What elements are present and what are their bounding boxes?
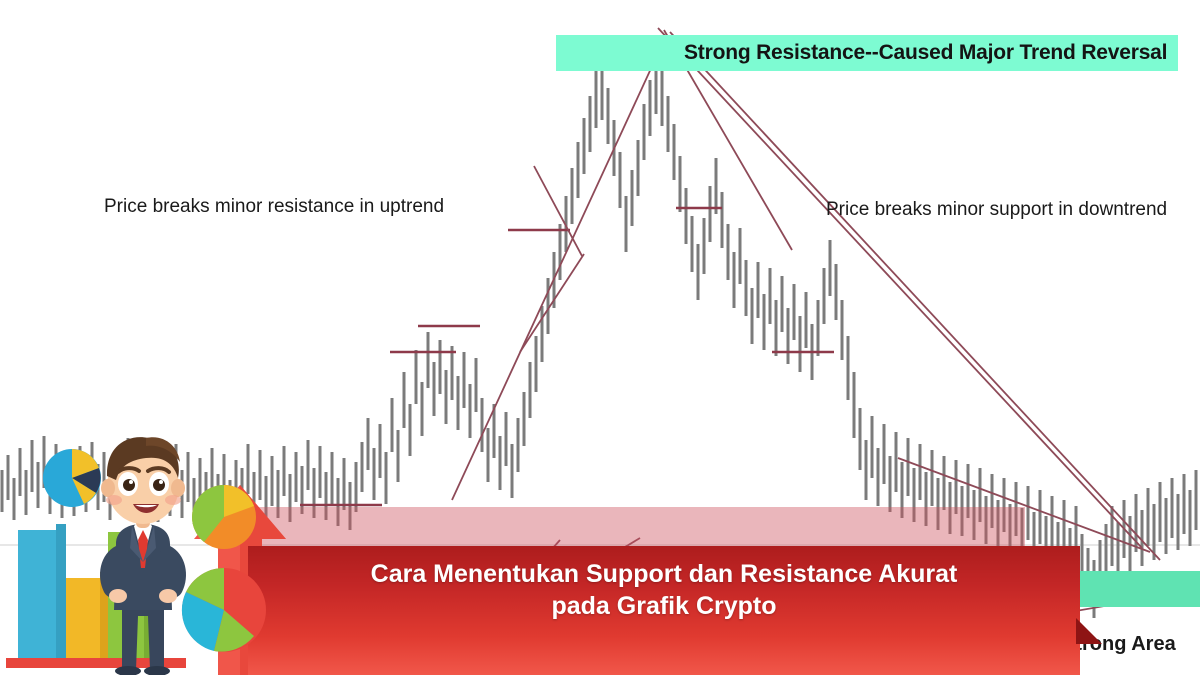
businessman-illustration xyxy=(0,420,268,675)
strong-resistance-label: Strong Resistance--Caused Major Trend Re… xyxy=(684,41,1167,65)
resistance-turned-support-band xyxy=(250,507,1025,547)
rising-support-trendline xyxy=(452,36,666,500)
pie-top-left-icon xyxy=(43,449,101,507)
infographic-canvas: Strong Resistance--Caused Major Trend Re… xyxy=(0,0,1200,675)
title-banner-text: Cara Menentukan Support dan Resistance A… xyxy=(319,558,1009,622)
bar-blue xyxy=(18,530,62,660)
pie-bottom-right-icon xyxy=(182,568,266,652)
strong-resistance-callout: Strong Resistance--Caused Major Trend Re… xyxy=(556,35,1178,71)
minor-down-trendline xyxy=(534,166,582,256)
annotation-uptrend: Price breaks minor resistance in uptrend xyxy=(104,196,444,218)
title-line-2: pada Grafik Crypto xyxy=(319,590,1009,622)
annotation-downtrend: Price breaks minor support in downtrend xyxy=(826,199,1167,221)
title-line-1: Cara Menentukan Support dan Resistance A… xyxy=(319,558,1009,590)
falling-resistance-trendline-major xyxy=(658,28,1142,548)
pie-mid-right-icon xyxy=(192,485,256,549)
title-banner: Cara Menentukan Support dan Resistance A… xyxy=(248,546,1080,675)
minor-up-trendline xyxy=(520,254,584,352)
